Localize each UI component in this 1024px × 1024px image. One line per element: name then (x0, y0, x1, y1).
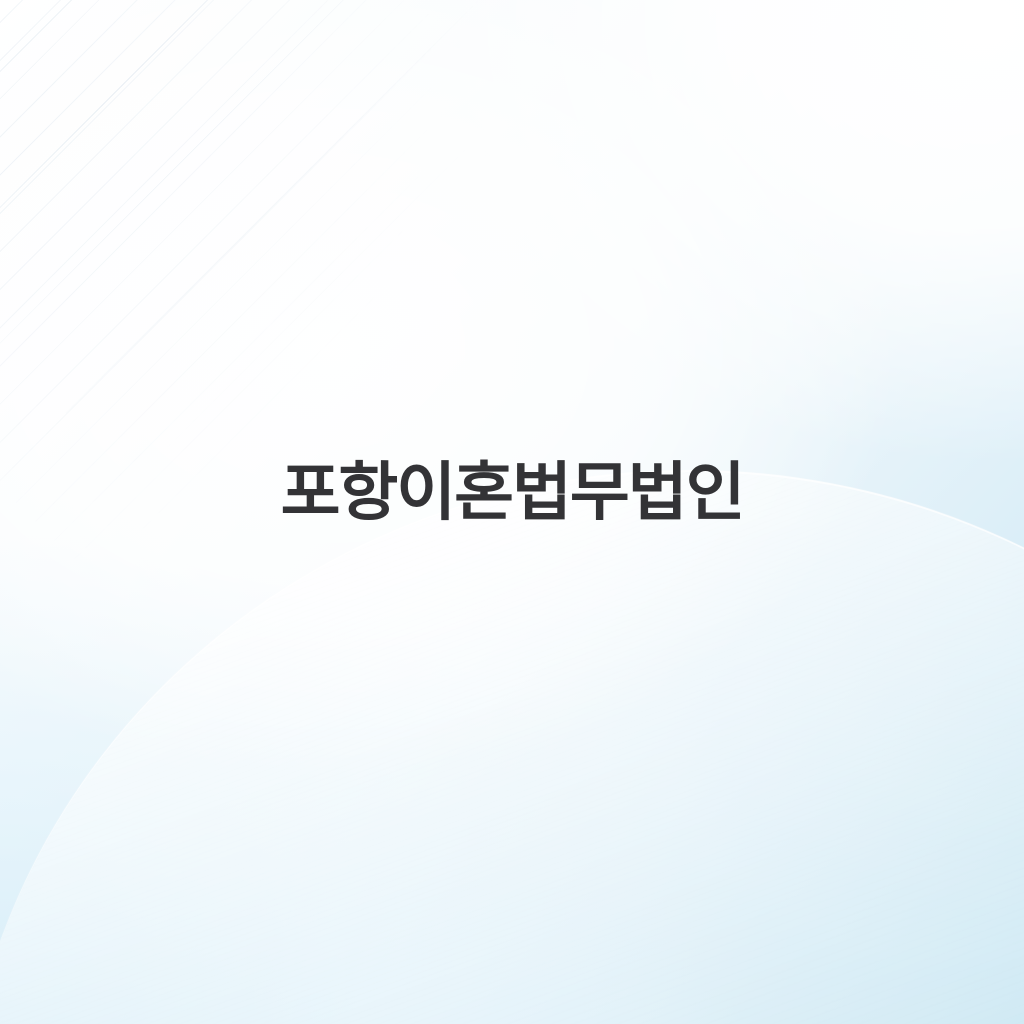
title-card: 포항이혼법무법인 (0, 0, 1024, 1024)
page-title: 포항이혼법무법인 (63, 462, 961, 526)
